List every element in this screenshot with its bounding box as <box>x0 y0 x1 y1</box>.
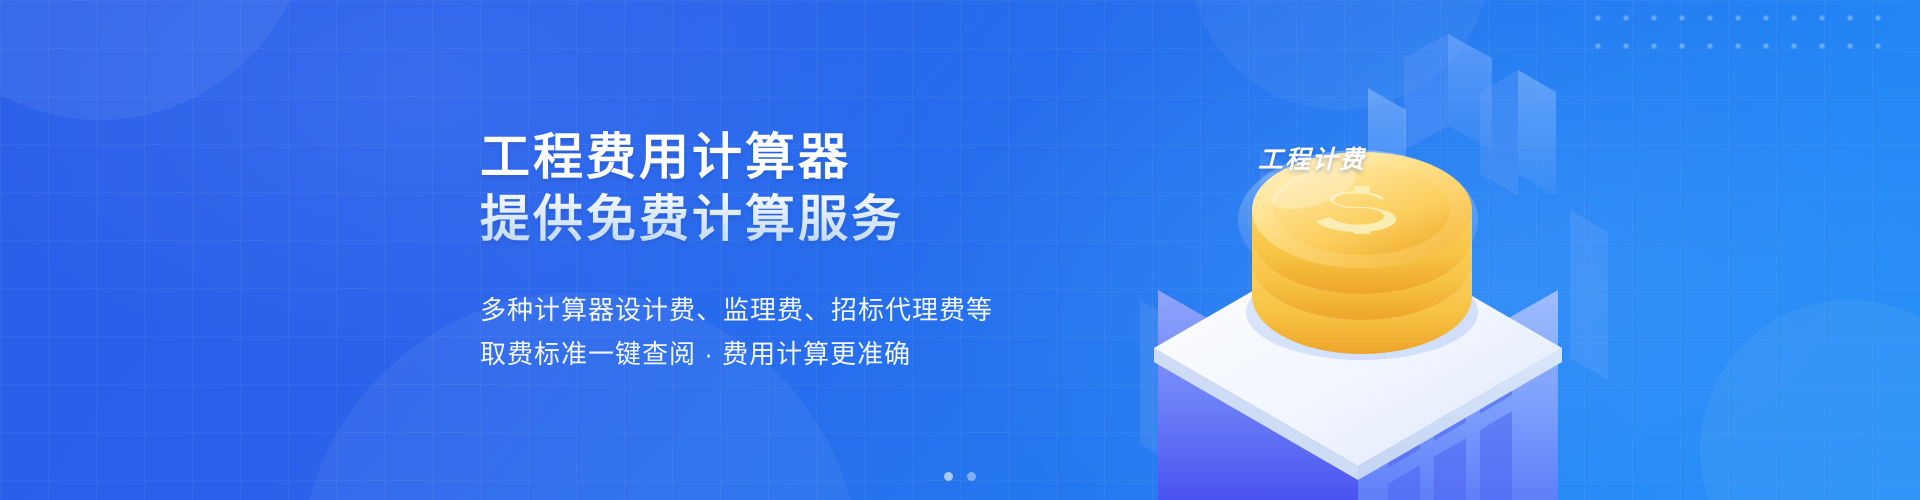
banner-illustration: 工程计费 <box>1100 0 1660 500</box>
coin-stack-icon <box>1246 152 1478 360</box>
hero-banner: 工程费用计算器 提供免费计算服务 多种计算器设计费、监理费、招标代理费等 取费标… <box>0 0 1920 500</box>
carousel-dot-1[interactable] <box>944 472 953 481</box>
carousel-dot-2[interactable] <box>967 472 976 481</box>
carousel-indicators[interactable] <box>944 472 976 481</box>
illustration-label: 工程计费 <box>1258 140 1366 176</box>
decorative-circle-bottom-right <box>1700 300 1920 500</box>
decorative-circle-top-left <box>0 0 310 120</box>
